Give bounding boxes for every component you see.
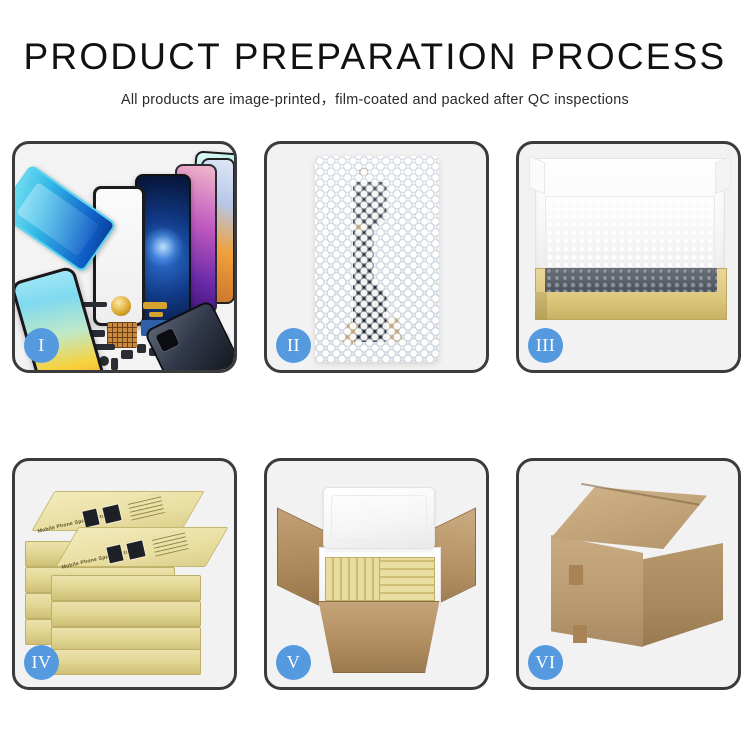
step-3-badge: III	[528, 328, 563, 363]
small-component-image	[111, 358, 118, 370]
sealed-carton-image	[533, 487, 725, 659]
header: PRODUCT PREPARATION PROCESS All products…	[0, 0, 750, 109]
carton-side-face	[641, 543, 723, 647]
process-step-4: Mobile Phone Spare Parts Mobile Phone Sp…	[12, 458, 237, 690]
step-2-badge: II	[276, 328, 311, 363]
box-layer	[51, 601, 201, 627]
page-title: PRODUCT PREPARATION PROCESS	[0, 38, 750, 77]
page-subtitle: All products are image-printed，film-coat…	[0, 88, 750, 109]
brown-carton-body	[307, 601, 451, 673]
foam-lid-image	[323, 487, 435, 549]
packing-tape	[573, 625, 587, 643]
yellow-boxes-image	[379, 557, 435, 601]
gold-component-image	[149, 312, 163, 317]
box-layer	[51, 649, 201, 675]
product-preparation-infographic: PRODUCT PREPARATION PROCESS All products…	[0, 0, 750, 750]
process-step-6: VI	[516, 458, 741, 690]
stacked-yellow-boxes-image: Mobile Phone Spare Parts Mobile Phone Sp…	[25, 479, 231, 675]
small-component-image	[95, 344, 115, 350]
gold-component-image	[143, 302, 167, 309]
box-layer	[51, 575, 201, 601]
box-side-panel	[535, 292, 547, 320]
process-step-3: III	[516, 141, 741, 373]
step-5-badge: V	[276, 645, 311, 680]
process-step-5: V	[264, 458, 489, 690]
step-6-badge: VI	[528, 645, 563, 680]
bubble-wrapped-contents-image	[545, 268, 717, 292]
process-step-1: I	[12, 141, 237, 373]
carton-front-face	[551, 535, 643, 647]
small-component-image	[137, 344, 146, 353]
bubble-wrap-bag-image	[315, 156, 439, 362]
process-step-2: II	[264, 141, 489, 373]
bag-seam	[325, 172, 429, 348]
process-step-grid: I II	[12, 141, 739, 690]
step-1-badge: I	[24, 328, 59, 363]
gold-coin-part-image	[111, 296, 131, 316]
white-foam-sheet-image	[545, 196, 715, 268]
small-component-image	[121, 350, 133, 359]
step-4-badge: IV	[24, 645, 59, 680]
packing-tape	[569, 565, 583, 585]
